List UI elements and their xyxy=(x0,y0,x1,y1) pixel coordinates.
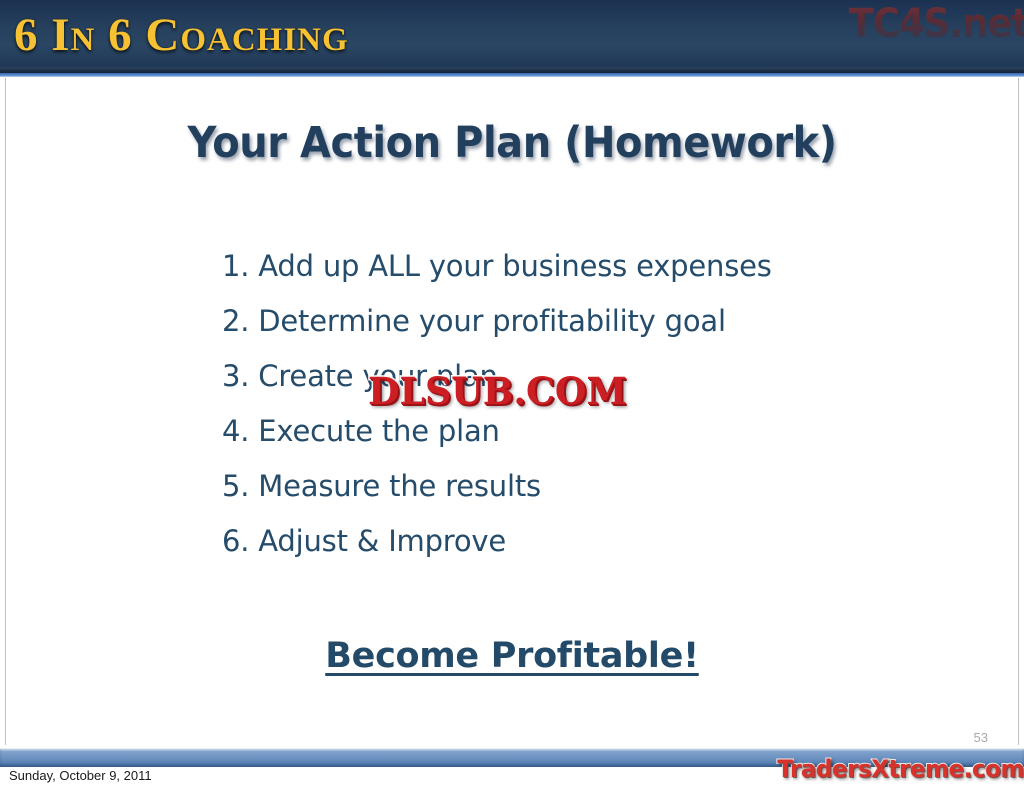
list-item: 6. Adjust & Improve xyxy=(222,514,862,569)
page-title: Your Action Plan (Homework) xyxy=(36,118,988,168)
footer-site-logo: TradersXtreme.com xyxy=(777,755,1024,783)
page-number: 53 xyxy=(974,730,988,745)
header-banner: 6 In 6 Coaching TC4S.net xyxy=(0,0,1024,73)
list-item: 1. Add up ALL your business expenses xyxy=(222,239,862,294)
footer-date: Sunday, October 9, 2011 xyxy=(9,768,152,783)
list-item: 5. Measure the results xyxy=(222,459,862,514)
callout-text: Become Profitable! xyxy=(325,636,698,676)
list-item: 2. Determine your profitability goal xyxy=(222,294,862,349)
watermark-overlay: DLSUB.COM xyxy=(368,369,627,413)
callout-block: Become Profitable! xyxy=(0,636,1024,676)
slide-canvas: 6 In 6 Coaching TC4S.net Your Action Pla… xyxy=(0,0,1024,788)
header-underline-rule xyxy=(0,73,1024,77)
brand-title: 6 In 6 Coaching xyxy=(14,4,349,66)
site-logo: TC4S.net xyxy=(848,0,1024,50)
